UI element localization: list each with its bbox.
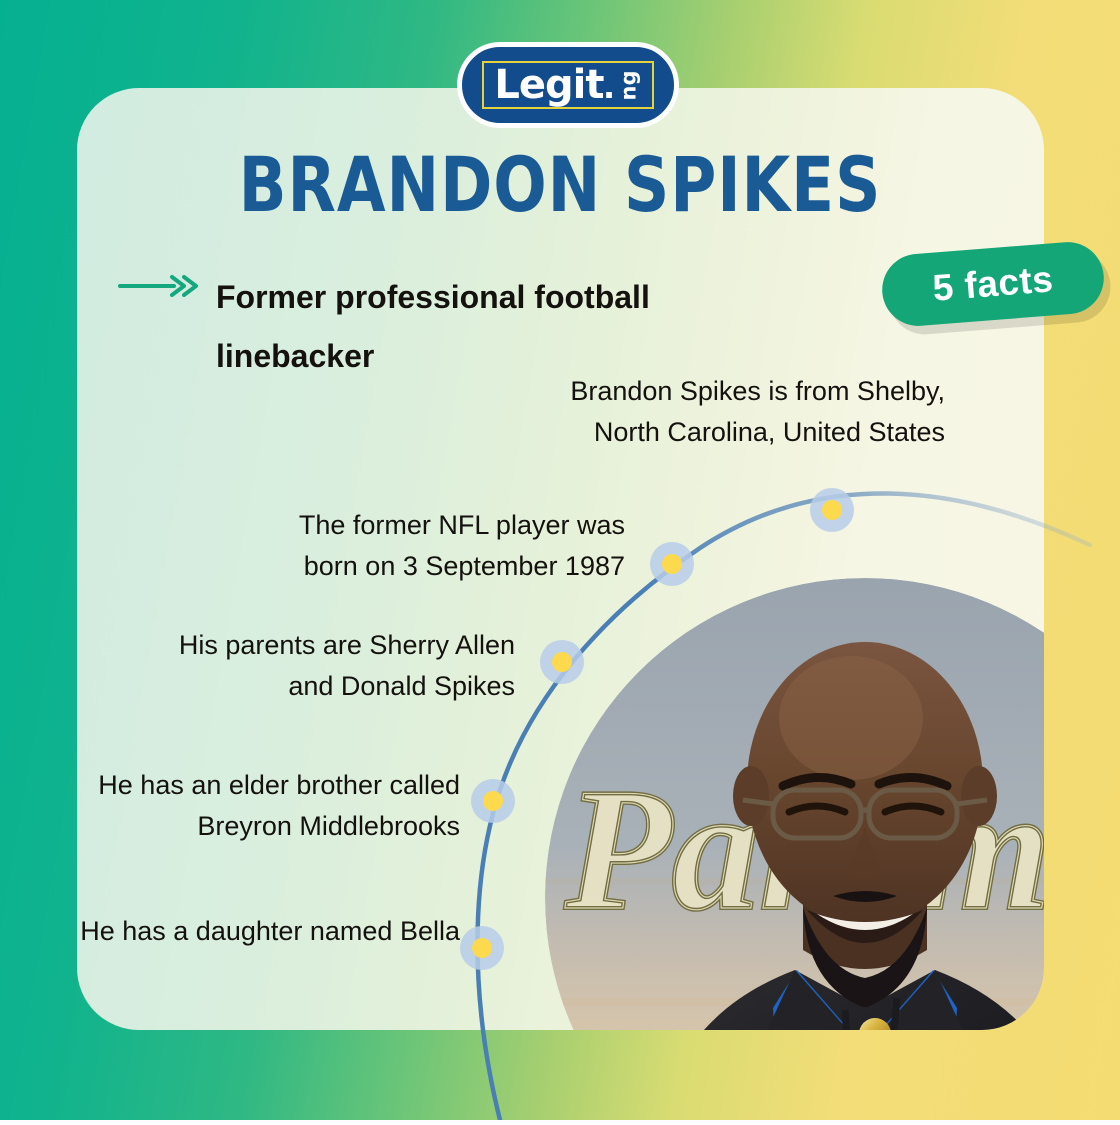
fact-text-daughter: He has a daughter named Bella [30, 911, 460, 952]
logo-frame: Legit.ng [482, 61, 653, 109]
fact-text-parents: His parents are Sherry Allen and Donald … [140, 625, 515, 707]
subject-photo: Paramount Paramount [545, 578, 1044, 1030]
legit-ng-logo[interactable]: Legit.ng [457, 42, 679, 128]
fact-text-birth: The former NFL player was born on 3 Sept… [240, 505, 625, 587]
logo-dot: . [603, 65, 614, 105]
logo-tld: ng [618, 70, 639, 100]
page-title: BRANDON SPIKES [45, 140, 1075, 229]
page-subtitle: Former professional football linebacker [216, 268, 816, 386]
logo-wordmark: Legit [494, 65, 603, 105]
fact-text-brother: He has an elder brother called Breyron M… [60, 765, 460, 847]
facts-count-label: 5 facts [931, 258, 1055, 309]
arrow-right-chevrons-icon [118, 273, 200, 299]
fact-text-origin: Brandon Spikes is from Shelby, North Car… [520, 371, 945, 453]
